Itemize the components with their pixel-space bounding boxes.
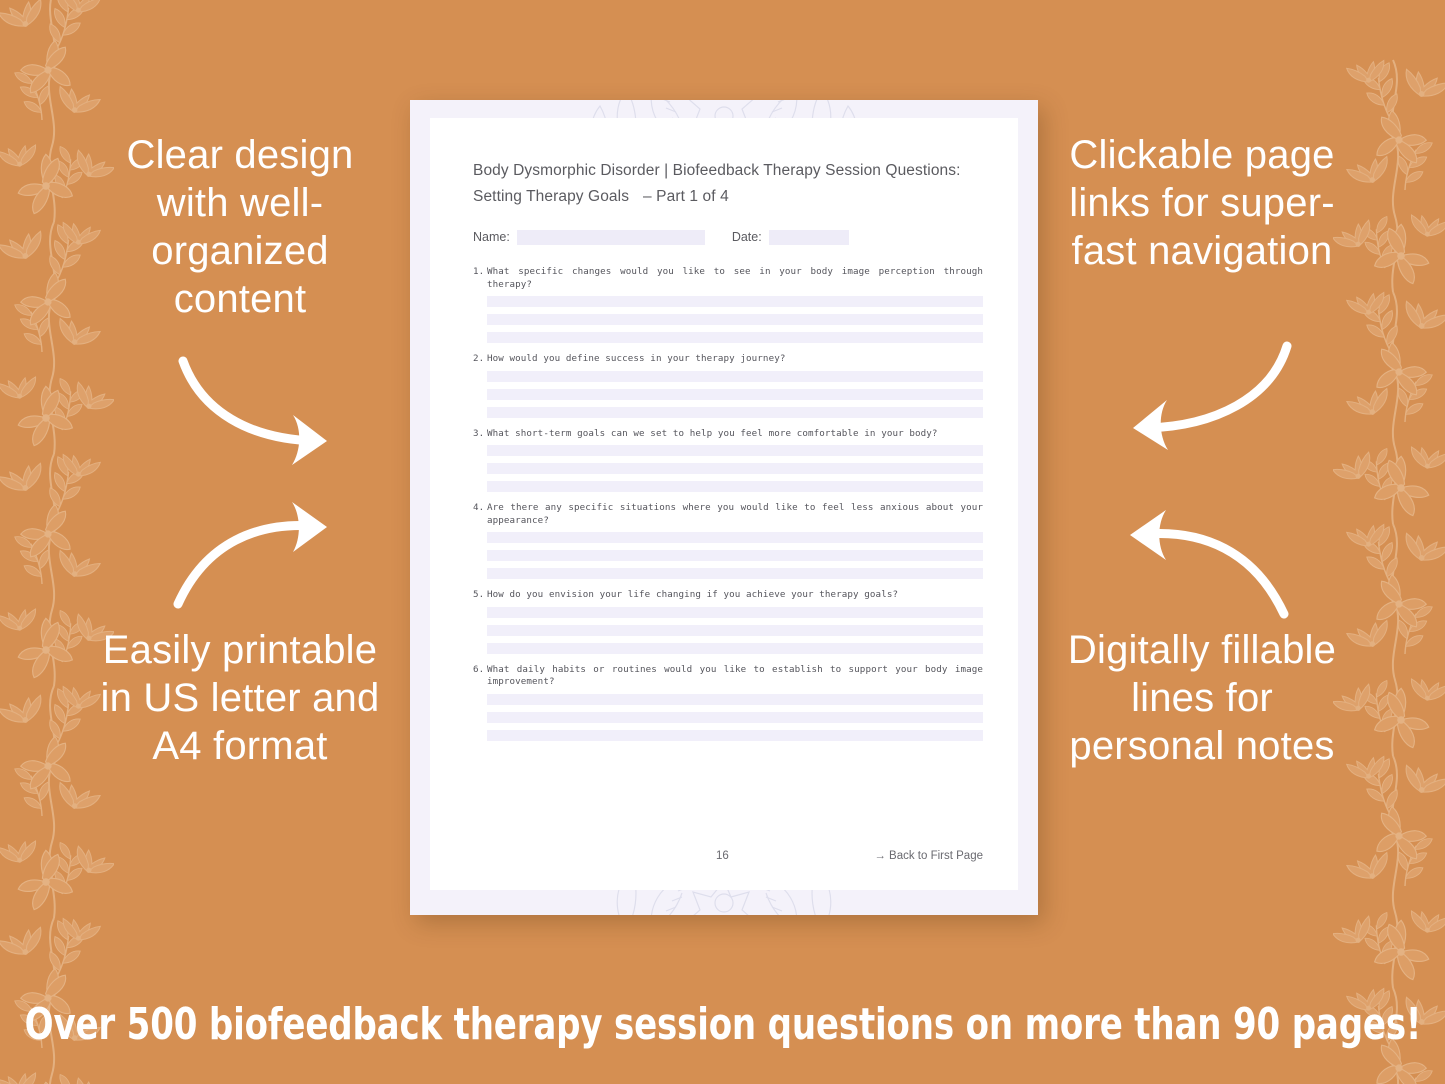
question-text: How do you envision your life changing i… bbox=[487, 589, 983, 602]
answer-line[interactable] bbox=[487, 407, 983, 418]
curved-arrow-left-down-icon bbox=[1095, 340, 1295, 450]
bottom-banner: Over 500 biofeedback therapy session que… bbox=[0, 964, 1445, 1084]
answer-line[interactable] bbox=[487, 643, 983, 654]
answer-line[interactable] bbox=[487, 445, 983, 456]
question-text: What short-term goals can we set to help… bbox=[487, 428, 983, 441]
question-number: 6. bbox=[473, 664, 487, 677]
name-input[interactable] bbox=[517, 230, 705, 245]
questions-list: 1.What specific changes would you like t… bbox=[473, 266, 983, 751]
answer-line[interactable] bbox=[487, 607, 983, 618]
answer-line[interactable] bbox=[487, 730, 983, 741]
caption-easily-printable: Easily printable in US letter and A4 for… bbox=[100, 626, 380, 770]
back-to-first-page-link[interactable]: → Back to First Page bbox=[874, 850, 983, 862]
page-number: 16 bbox=[716, 850, 729, 862]
answer-line[interactable] bbox=[487, 371, 983, 382]
question-row: 1.What specific changes would you like t… bbox=[473, 266, 983, 291]
answer-line[interactable] bbox=[487, 314, 983, 325]
answer-line[interactable] bbox=[487, 389, 983, 400]
question-number: 5. bbox=[473, 589, 487, 602]
curved-arrow-right-down-icon bbox=[175, 355, 365, 465]
answer-line[interactable] bbox=[487, 481, 983, 492]
question-row: 3.What short-term goals can we set to he… bbox=[473, 428, 983, 441]
question-text: What specific changes would you like to … bbox=[487, 266, 983, 291]
answer-line[interactable] bbox=[487, 568, 983, 579]
date-label: Date: bbox=[732, 230, 762, 244]
question-block: 6.What daily habits or routines would yo… bbox=[473, 664, 983, 741]
worksheet-page[interactable]: Body Dysmorphic Disorder | Biofeedback T… bbox=[410, 100, 1038, 915]
page-title-line1: Body Dysmorphic Disorder | Biofeedback T… bbox=[473, 158, 983, 184]
answer-line[interactable] bbox=[487, 332, 983, 343]
curved-arrow-left-up-icon bbox=[1090, 510, 1290, 620]
caption-digitally-fillable-lines: Digitally fillable lines for personal no… bbox=[1062, 626, 1342, 770]
curved-arrow-right-up-icon bbox=[172, 500, 362, 610]
banner-headline: Over 500 biofeedback therapy session que… bbox=[24, 999, 1421, 1050]
question-text: How would you define success in your the… bbox=[487, 353, 983, 366]
worksheet-sheet: Body Dysmorphic Disorder | Biofeedback T… bbox=[430, 118, 1018, 890]
question-text: What daily habits or routines would you … bbox=[487, 664, 983, 689]
question-block: 5.How do you envision your life changing… bbox=[473, 589, 983, 654]
answer-line[interactable] bbox=[487, 694, 983, 705]
page-title: Body Dysmorphic Disorder | Biofeedback T… bbox=[473, 158, 983, 210]
question-row: 4.Are there any specific situations wher… bbox=[473, 502, 983, 527]
answer-lines bbox=[473, 371, 983, 418]
answer-lines bbox=[473, 296, 983, 343]
page-title-subject: Setting Therapy Goals bbox=[473, 188, 629, 205]
question-row: 2.How would you define success in your t… bbox=[473, 353, 983, 366]
answer-line[interactable] bbox=[487, 712, 983, 723]
question-block: 4.Are there any specific situations wher… bbox=[473, 502, 983, 579]
answer-lines bbox=[473, 694, 983, 741]
question-row: 6.What daily habits or routines would yo… bbox=[473, 664, 983, 689]
question-number: 2. bbox=[473, 353, 487, 366]
question-number: 1. bbox=[473, 266, 487, 279]
question-number: 3. bbox=[473, 428, 487, 441]
question-row: 5.How do you envision your life changing… bbox=[473, 589, 983, 602]
answer-lines bbox=[473, 445, 983, 492]
name-label: Name: bbox=[473, 230, 510, 244]
name-date-row: Name: Date: bbox=[473, 229, 983, 245]
answer-line[interactable] bbox=[487, 296, 983, 307]
date-input[interactable] bbox=[769, 230, 849, 245]
answer-line[interactable] bbox=[487, 625, 983, 636]
answer-lines bbox=[473, 607, 983, 654]
answer-line[interactable] bbox=[487, 532, 983, 543]
question-block: 1.What specific changes would you like t… bbox=[473, 266, 983, 343]
question-text: Are there any specific situations where … bbox=[487, 502, 983, 527]
page-title-part: – Part 1 of 4 bbox=[643, 188, 729, 205]
question-block: 2.How would you define success in your t… bbox=[473, 353, 983, 418]
answer-line[interactable] bbox=[487, 463, 983, 474]
answer-lines bbox=[473, 532, 983, 579]
page-title-line2: Setting Therapy Goals– Part 1 of 4 bbox=[473, 184, 983, 210]
question-block: 3.What short-term goals can we set to he… bbox=[473, 428, 983, 493]
floral-vine-left-decoration bbox=[0, 0, 114, 1084]
poster-background: Clear design with well-organized content… bbox=[0, 0, 1445, 1084]
document-footer: 16 → Back to First Page bbox=[473, 850, 983, 866]
caption-clear-design: Clear design with well-organized content bbox=[100, 131, 380, 323]
caption-clickable-page-links: Clickable page links for super-fast navi… bbox=[1062, 131, 1342, 275]
answer-line[interactable] bbox=[487, 550, 983, 561]
floral-vine-right-decoration bbox=[1333, 0, 1445, 1084]
question-number: 4. bbox=[473, 502, 487, 515]
